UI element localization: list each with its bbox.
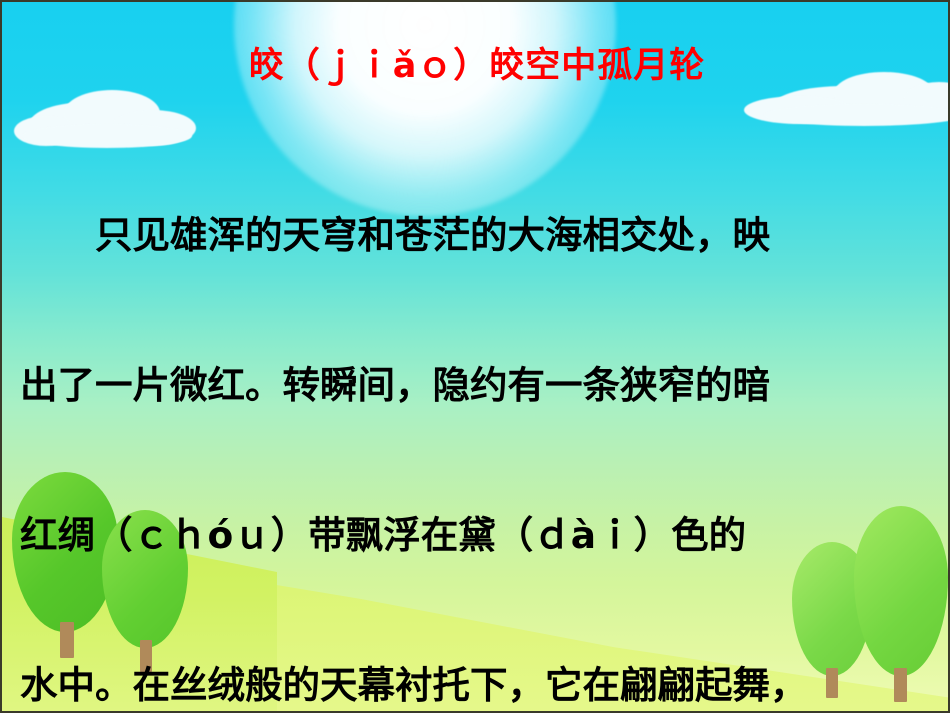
slide-canvas: 皎（ｊｉǎｏ）皎空中孤月轮 只见雄浑的天穹和苍茫的大海相交处，映 出了一片微红。… [0,0,950,713]
page-title: 皎（ｊｉǎｏ）皎空中孤月轮 [2,44,950,88]
text-line-1: 只见雄浑的天穹和苍茫的大海相交处，映 [20,210,934,260]
text-line-2: 出了一片微红。转瞬间，隐约有一条狭窄的暗 [20,360,934,410]
text-line-3: 红绸（ｃｈóｕ）带飘浮在黛（ｄàｉ）色的 [20,510,934,560]
body-paragraph: 只见雄浑的天穹和苍茫的大海相交处，映 出了一片微红。转瞬间，隐约有一条狭窄的暗 … [20,110,934,713]
text-line-4: 水中。在丝绒般的天幕衬托下，它在翩翩起舞， [20,660,934,710]
